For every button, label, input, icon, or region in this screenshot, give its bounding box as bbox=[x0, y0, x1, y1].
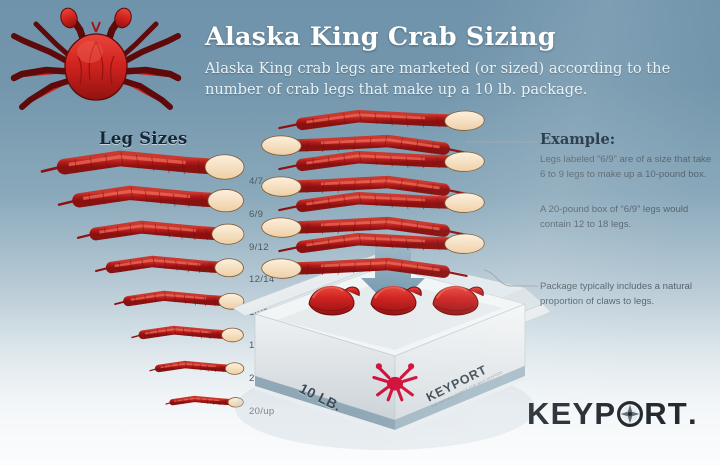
package-leader-line bbox=[468, 262, 548, 302]
stacked-crab-leg bbox=[279, 191, 484, 216]
package-note-paragraph: Package typically includes a natural pro… bbox=[540, 280, 712, 309]
leg-sizes-heading: Leg Sizes bbox=[99, 129, 188, 148]
king-crab-icon bbox=[12, 8, 182, 118]
title-block: Alaska King Crab Sizing Alaska King crab… bbox=[205, 22, 705, 100]
crab-leg-illustration bbox=[111, 291, 243, 313]
crab-leg-illustration bbox=[92, 256, 243, 281]
page-subtitle: Alaska King crab legs are marketed (or s… bbox=[205, 59, 705, 100]
crab-leg-illustration bbox=[55, 186, 243, 217]
compass-rose-icon bbox=[617, 401, 643, 427]
example-paragraph-1: Legs labeled “6/9” are of a size that ta… bbox=[540, 153, 712, 182]
keyport-logo: KEYP RT . bbox=[527, 398, 697, 429]
logo-text-after: RT bbox=[644, 398, 688, 429]
stacked-crab-leg bbox=[279, 150, 484, 175]
stacked-crab-leg bbox=[279, 109, 484, 134]
crab-leg-illustration bbox=[74, 221, 243, 249]
logo-text-before: KEYP bbox=[527, 398, 616, 429]
page-title: Alaska King Crab Sizing bbox=[205, 22, 705, 52]
crab-leg-illustration bbox=[38, 151, 243, 185]
example-heading: Example: bbox=[540, 131, 615, 148]
infographic-canvas: Alaska King Crab Sizing Alaska King crab… bbox=[0, 0, 720, 465]
logo-period: . bbox=[688, 398, 697, 429]
example-paragraph-2: A 20-pound box of “6/9” legs would conta… bbox=[540, 203, 712, 232]
